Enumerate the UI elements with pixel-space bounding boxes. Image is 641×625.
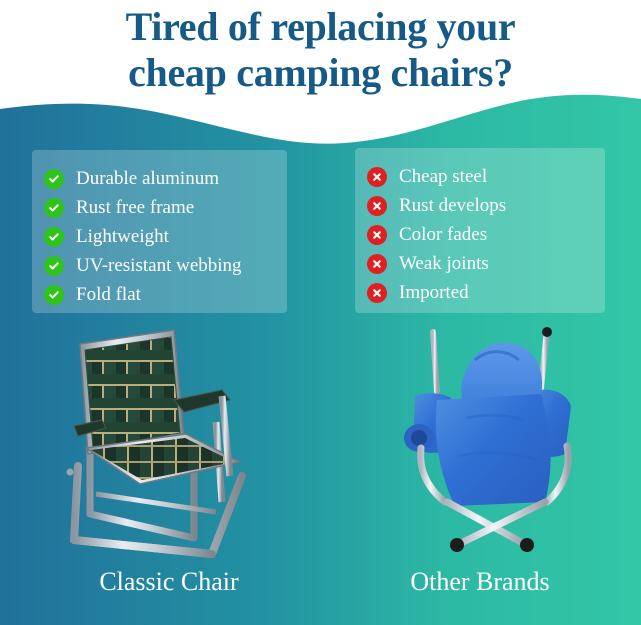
list-item: Fold flat: [44, 280, 287, 309]
check-circle-icon: [44, 256, 64, 276]
list-item-label: Lightweight: [76, 226, 169, 247]
cons-panel: Cheap steel Rust develops Color fades We…: [355, 148, 605, 313]
x-circle-icon: [367, 283, 387, 303]
product-other-brands: Other Brands: [340, 326, 620, 597]
list-item-label: Rust develops: [399, 195, 506, 216]
classic-chair-caption: Classic Chair: [24, 567, 314, 597]
list-item-label: Rust free frame: [76, 197, 194, 218]
list-item-label: Imported: [399, 282, 469, 303]
x-circle-icon: [367, 254, 387, 274]
headline-line-1: Tired of replacing your: [0, 4, 641, 50]
pros-panel: Durable aluminum Rust free frame Lightwe…: [32, 150, 287, 313]
list-item: Rust develops: [367, 191, 605, 220]
page-title: Tired of replacing your cheap camping ch…: [0, 0, 641, 96]
list-item-label: Cheap steel: [399, 166, 487, 187]
check-circle-icon: [44, 227, 64, 247]
classic-chair-image: [24, 326, 314, 561]
x-circle-icon: [367, 225, 387, 245]
product-classic-chair: Classic Chair: [24, 326, 314, 597]
other-brands-chair-image: [340, 326, 620, 561]
comparison-infographic: Tired of replacing your cheap camping ch…: [0, 0, 641, 625]
list-item-label: Durable aluminum: [76, 168, 219, 189]
header: Tired of replacing your cheap camping ch…: [0, 0, 641, 108]
check-circle-icon: [44, 169, 64, 189]
headline-line-2: cheap camping chairs?: [0, 50, 641, 96]
list-item: Lightweight: [44, 222, 287, 251]
list-item: Weak joints: [367, 249, 605, 278]
x-circle-icon: [367, 196, 387, 216]
list-item: Color fades: [367, 220, 605, 249]
list-item-label: Color fades: [399, 224, 487, 245]
other-brands-caption: Other Brands: [340, 567, 620, 597]
list-item: Rust free frame: [44, 193, 287, 222]
cons-feature-list: Cheap steel Rust develops Color fades We…: [355, 148, 605, 307]
list-item-label: Weak joints: [399, 253, 489, 274]
list-item: Imported: [367, 278, 605, 307]
list-item: Cheap steel: [367, 162, 605, 191]
x-circle-icon: [367, 167, 387, 187]
list-item-label: UV-resistant webbing: [76, 255, 242, 276]
list-item: Durable aluminum: [44, 164, 287, 193]
list-item-label: Fold flat: [76, 284, 141, 305]
check-circle-icon: [44, 285, 64, 305]
pros-feature-list: Durable aluminum Rust free frame Lightwe…: [32, 150, 287, 309]
list-item: UV-resistant webbing: [44, 251, 287, 280]
check-circle-icon: [44, 198, 64, 218]
